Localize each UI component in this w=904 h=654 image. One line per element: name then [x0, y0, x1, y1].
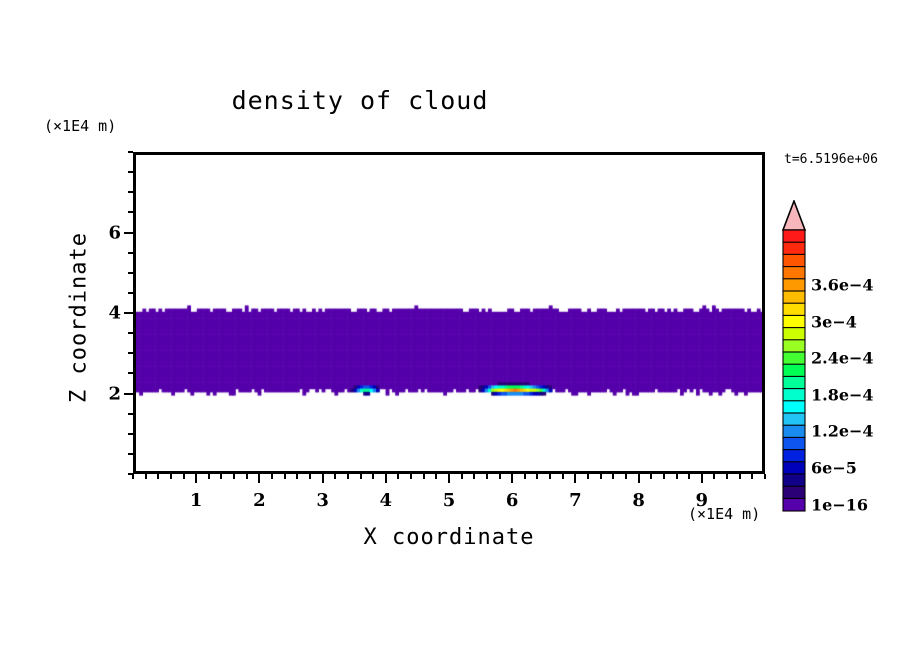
x-tick-minor — [246, 474, 248, 479]
colorbar-band — [783, 291, 805, 304]
x-tick-minor — [524, 474, 526, 479]
y-tick-minor — [128, 453, 133, 455]
colorbar-band — [783, 328, 805, 341]
x-tick-label: 8 — [632, 490, 645, 511]
x-tick-minor — [739, 474, 741, 479]
x-tick-major — [322, 474, 324, 483]
colorbar-band — [783, 303, 805, 316]
colorbar-band — [783, 389, 805, 402]
colorbar-band — [783, 462, 805, 475]
colorbar-tick-label: 1.2e−4 — [811, 422, 874, 441]
colorbar-band — [783, 242, 805, 255]
x-tick-minor — [764, 474, 766, 479]
x-tick-minor — [284, 474, 286, 479]
y-tick-minor — [128, 252, 133, 254]
x-tick-minor — [726, 474, 728, 479]
simulation-time-label: t=6.5196e+06 — [784, 152, 878, 167]
y-tick-minor — [128, 332, 133, 334]
colorbar-band — [783, 498, 805, 511]
y-tick-minor — [128, 473, 133, 475]
y-axis-title: Z coordinate — [67, 198, 92, 438]
colorbar-band — [783, 267, 805, 280]
colorbar-tick-label: 1e−16 — [811, 495, 868, 514]
x-tick-minor — [397, 474, 399, 479]
colorbar-band — [783, 376, 805, 389]
x-tick-major — [258, 474, 260, 483]
x-tick-minor — [549, 474, 551, 479]
x-tick-label: 4 — [380, 490, 393, 511]
x-tick-minor — [751, 474, 753, 479]
x-tick-minor — [600, 474, 602, 479]
colorbar-swatches — [781, 200, 811, 515]
x-tick-minor — [486, 474, 488, 479]
colorbar-tick-label: 3.6e−4 — [811, 275, 874, 294]
x-axis: 123456789 — [133, 474, 765, 514]
density-field-image — [136, 155, 762, 471]
colorbar-band — [783, 474, 805, 487]
x-tick-minor — [461, 474, 463, 479]
colorbar-band — [783, 364, 805, 377]
x-tick-minor — [663, 474, 665, 479]
colorbar-arrow-top — [783, 201, 805, 230]
colorbar-band — [783, 230, 805, 243]
x-tick-minor — [612, 474, 614, 479]
x-tick-major — [195, 474, 197, 483]
x-tick-minor — [625, 474, 627, 479]
x-tick-major — [574, 474, 576, 483]
x-tick-minor — [688, 474, 690, 479]
y-tick-minor — [128, 372, 133, 374]
colorbar-tick-label: 1.8e−4 — [811, 385, 874, 404]
x-tick-minor — [220, 474, 222, 479]
x-tick-minor — [536, 474, 538, 479]
y-tick-major — [124, 312, 133, 314]
y-tick-minor — [128, 272, 133, 274]
colorbar-band — [783, 437, 805, 450]
colorbar-tick-label: 6e−5 — [811, 458, 857, 477]
x-tick-minor — [208, 474, 210, 479]
x-tick-minor — [296, 474, 298, 479]
x-tick-minor — [473, 474, 475, 479]
x-tick-minor — [562, 474, 564, 479]
x-tick-minor — [423, 474, 425, 479]
colorbar[interactable]: 3.6e−43e−42.4e−41.8e−41.2e−46e−51e−16 — [781, 200, 901, 490]
x-tick-minor — [499, 474, 501, 479]
y-tick-minor — [128, 352, 133, 354]
figure-canvas: density of cloud (×1E4 m) t=6.5196e+06 1… — [0, 0, 904, 654]
colorbar-band — [783, 401, 805, 414]
y-tick-label: 2 — [108, 383, 121, 404]
x-tick-minor — [650, 474, 652, 479]
colorbar-band — [783, 425, 805, 438]
x-tick-label: 7 — [569, 490, 582, 511]
y-tick-label: 6 — [108, 222, 121, 243]
colorbar-band — [783, 340, 805, 353]
colorbar-band — [783, 413, 805, 426]
x-tick-minor — [271, 474, 273, 479]
x-tick-label: 3 — [316, 490, 329, 511]
y-tick-minor — [128, 171, 133, 173]
x-tick-major — [385, 474, 387, 483]
colorbar-tick-label: 3e−4 — [811, 312, 857, 331]
x-tick-minor — [587, 474, 589, 479]
x-tick-minor — [676, 474, 678, 479]
x-axis-unit-label: (×1E4 m) — [688, 505, 760, 523]
colorbar-band — [783, 486, 805, 499]
plot-area[interactable] — [133, 152, 765, 474]
x-tick-minor — [360, 474, 362, 479]
y-tick-minor — [128, 151, 133, 153]
colorbar-band — [783, 279, 805, 292]
x-tick-minor — [309, 474, 311, 479]
colorbar-band — [783, 450, 805, 463]
x-tick-major — [448, 474, 450, 483]
colorbar-band — [783, 254, 805, 267]
y-axis-unit-label: (×1E4 m) — [44, 117, 116, 135]
y-tick-minor — [128, 191, 133, 193]
x-tick-minor — [170, 474, 172, 479]
x-tick-label: 6 — [506, 490, 519, 511]
x-tick-major — [701, 474, 703, 483]
x-tick-label: 1 — [190, 490, 203, 511]
x-tick-minor — [157, 474, 159, 479]
x-tick-minor — [145, 474, 147, 479]
y-tick-major — [124, 393, 133, 395]
y-tick-minor — [128, 413, 133, 415]
x-tick-label: 5 — [443, 490, 456, 511]
y-tick-minor — [128, 211, 133, 213]
figure-title: density of cloud — [0, 86, 720, 115]
x-tick-minor — [372, 474, 374, 479]
x-tick-minor — [713, 474, 715, 479]
x-tick-minor — [183, 474, 185, 479]
x-tick-label: 2 — [253, 490, 266, 511]
x-tick-major — [638, 474, 640, 483]
y-tick-minor — [128, 292, 133, 294]
x-axis-title: X coordinate — [133, 525, 765, 550]
y-tick-major — [124, 232, 133, 234]
x-tick-minor — [435, 474, 437, 479]
colorbar-band — [783, 352, 805, 365]
x-tick-minor — [410, 474, 412, 479]
x-tick-minor — [233, 474, 235, 479]
x-tick-major — [511, 474, 513, 483]
colorbar-tick-label: 2.4e−4 — [811, 349, 874, 368]
x-tick-minor — [334, 474, 336, 479]
y-tick-label: 4 — [108, 303, 121, 324]
y-tick-minor — [128, 433, 133, 435]
colorbar-band — [783, 315, 805, 328]
x-tick-minor — [347, 474, 349, 479]
